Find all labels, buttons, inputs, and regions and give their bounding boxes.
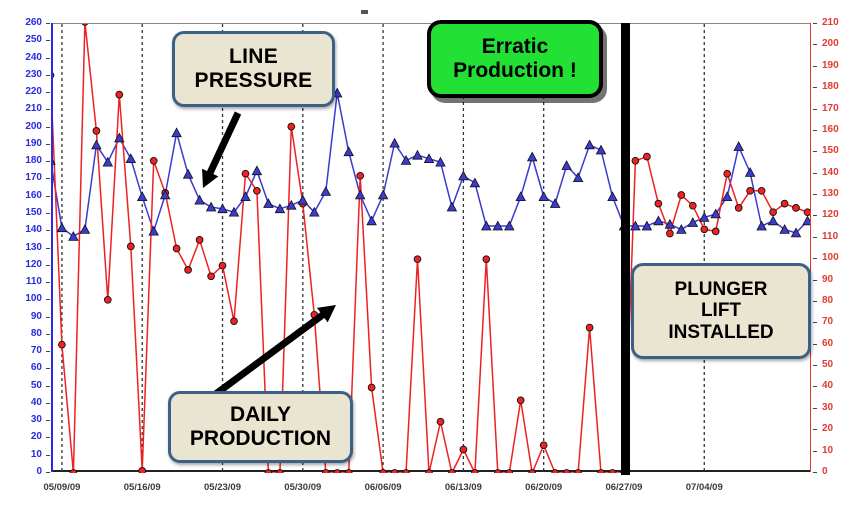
data-point-daily-production (82, 24, 89, 25)
y-axis-left-tick (46, 23, 50, 24)
y-axis-left-tick-label: 30 (8, 415, 42, 425)
data-point-daily-production (540, 442, 547, 449)
y-axis-right-tick (813, 258, 817, 259)
data-point-daily-production (116, 91, 123, 98)
data-point-daily-production (219, 262, 226, 269)
data-point-daily-production (391, 470, 398, 473)
y-axis-right-tick-label: 20 (822, 424, 833, 434)
data-point-daily-production (414, 256, 421, 263)
y-axis-right-tick-label: 150 (822, 146, 839, 156)
y-axis-right-tick-label: 10 (822, 446, 833, 456)
data-point-line-pressure (298, 196, 307, 205)
y-axis-right-tick (813, 173, 817, 174)
data-point-line-pressure (184, 170, 193, 179)
data-point-daily-production (59, 341, 66, 348)
data-point-line-pressure (126, 154, 135, 163)
y-axis-left-tick-label: 90 (8, 312, 42, 322)
data-point-line-pressure (252, 166, 261, 175)
data-point-daily-production (609, 470, 616, 473)
x-axis-tick-label: 06/20/09 (509, 482, 579, 493)
data-point-daily-production (139, 468, 146, 474)
x-axis-tick-label: 07/04/09 (669, 482, 739, 493)
series-line-pressure-path (53, 93, 810, 236)
y-axis-right-tick (813, 130, 817, 131)
data-point-daily-production (804, 209, 810, 216)
x-axis-tick-label: 06/06/09 (348, 482, 418, 493)
y-axis-left-tick-label: 210 (8, 104, 42, 114)
data-point-line-pressure (585, 140, 594, 149)
y-axis-left-tick (46, 161, 50, 162)
data-point-line-pressure (207, 203, 216, 212)
data-point-daily-production (460, 446, 467, 453)
y-axis-left-tick-label: 200 (8, 122, 42, 132)
data-point-line-pressure (103, 158, 112, 167)
data-point-daily-production (104, 296, 111, 303)
y-axis-right-tick (813, 66, 817, 67)
y-axis-right-tick-label: 160 (822, 125, 839, 135)
data-point-line-pressure (654, 216, 663, 225)
callout-erratic-line2: Production ! (453, 59, 577, 83)
data-point-line-pressure (321, 187, 330, 196)
data-point-line-pressure (241, 192, 250, 201)
y-axis-left-tick-label: 50 (8, 381, 42, 391)
y-axis-left-tick-label: 20 (8, 432, 42, 442)
callout-plunger-line3: INSTALLED (668, 322, 773, 343)
data-point-daily-production (426, 470, 433, 473)
data-point-daily-production (483, 256, 490, 263)
data-point-daily-production (712, 228, 719, 235)
x-axis-tick-label: 06/13/09 (428, 482, 498, 493)
y-axis-left-tick-label: 180 (8, 156, 42, 166)
y-axis-left-tick (46, 334, 50, 335)
y-axis-left-tick (46, 386, 50, 387)
data-point-daily-production (506, 470, 513, 473)
x-axis-tick-label: 05/09/09 (27, 482, 97, 493)
y-axis-right-tick (813, 451, 817, 452)
callout-daily-production-line2: PRODUCTION (190, 427, 331, 451)
y-axis-right-tick (813, 322, 817, 323)
data-point-daily-production (494, 470, 501, 473)
data-point-daily-production (517, 397, 524, 404)
y-axis-right-tick (813, 237, 817, 238)
x-axis-tick-label: 05/23/09 (188, 482, 258, 493)
callout-daily-production[interactable]: DAILY PRODUCTION (168, 391, 353, 463)
y-axis-left-tick (46, 40, 50, 41)
y-axis-right-tick (813, 301, 817, 302)
callout-erratic-production[interactable]: Erratic Production ! (427, 20, 603, 98)
data-point-line-pressure (459, 171, 468, 180)
x-axis-tick-label: 05/16/09 (107, 482, 177, 493)
data-point-daily-production (70, 470, 77, 473)
y-axis-left-tick-label: 230 (8, 70, 42, 80)
y-axis-left-tick (46, 368, 50, 369)
y-axis-left-tick-label: 220 (8, 87, 42, 97)
y-axis-right-tick-label: 90 (822, 275, 833, 285)
data-point-line-pressure (688, 218, 697, 227)
data-point-daily-production (758, 187, 765, 194)
y-axis-right-tick-label: 210 (822, 18, 839, 28)
y-axis-left-tick (46, 92, 50, 93)
data-point-daily-production (345, 470, 352, 473)
data-point-line-pressure (264, 199, 273, 208)
y-axis-left-tick (46, 472, 50, 473)
data-point-line-pressure (367, 216, 376, 225)
data-point-daily-production (678, 192, 685, 199)
data-point-daily-production (173, 245, 180, 252)
data-point-line-pressure (551, 199, 560, 208)
data-point-daily-production (150, 157, 157, 164)
x-axis-tick-label: 06/27/09 (589, 482, 659, 493)
y-axis-left-tick (46, 144, 50, 145)
data-point-daily-production (793, 205, 800, 212)
data-point-daily-production (53, 72, 54, 79)
y-axis-left-tick-label: 190 (8, 139, 42, 149)
data-point-daily-production (403, 470, 410, 473)
data-point-line-pressure (356, 190, 365, 199)
y-axis-left-tick (46, 420, 50, 421)
data-point-daily-production (254, 187, 261, 194)
y-axis-left-tick-label: 0 (8, 467, 42, 477)
data-point-line-pressure (447, 203, 456, 212)
callout-erratic-line1: Erratic (453, 35, 577, 59)
data-point-daily-production (334, 470, 341, 473)
data-point-line-pressure (92, 140, 101, 149)
data-point-daily-production (437, 418, 444, 425)
y-axis-left-tick-label: 140 (8, 225, 42, 235)
y-axis-right-tick-label: 120 (822, 210, 839, 220)
y-axis-right-tick (813, 280, 817, 281)
data-point-line-pressure (379, 190, 388, 199)
chart-screenshot: 0102030405060708090100110120130140150160… (0, 0, 865, 515)
x-axis-tick-label: 05/30/09 (268, 482, 338, 493)
y-axis-right-tick-label: 50 (822, 360, 833, 370)
callout-plunger-lift-installed[interactable]: PLUNGER LIFT INSTALLED (631, 263, 811, 359)
data-point-line-pressure (769, 216, 778, 225)
data-point-daily-production (724, 170, 731, 177)
data-point-line-pressure (80, 225, 89, 234)
data-point-daily-production (368, 384, 375, 391)
data-point-daily-production (563, 470, 570, 473)
data-point-daily-production (701, 226, 708, 233)
data-point-line-pressure (344, 147, 353, 156)
event-marker-bar (621, 23, 630, 475)
y-axis-right-tick-label: 140 (822, 168, 839, 178)
callout-line-pressure[interactable]: LINE PRESSURE (172, 31, 335, 107)
data-point-daily-production (552, 470, 559, 473)
y-axis-right-tick-label: 70 (822, 317, 833, 327)
y-axis-left-tick-label: 80 (8, 329, 42, 339)
data-point-daily-production (781, 200, 788, 207)
data-point-daily-production (689, 202, 696, 209)
y-axis-left-tick (46, 75, 50, 76)
data-point-daily-production (277, 470, 284, 473)
callout-line-pressure-line1: LINE (195, 45, 313, 69)
data-point-line-pressure (746, 168, 755, 177)
y-axis-left-tick (46, 213, 50, 214)
y-axis-left-tick-label: 100 (8, 294, 42, 304)
y-axis-right-tick (813, 151, 817, 152)
data-point-line-pressure (172, 128, 181, 137)
y-axis-right-tick (813, 44, 817, 45)
y-axis-left-tick-label: 10 (8, 450, 42, 460)
data-point-daily-production (632, 157, 639, 164)
data-point-line-pressure (57, 223, 66, 232)
data-point-daily-production (529, 470, 536, 473)
data-point-daily-production (644, 153, 651, 160)
y-axis-right-tick-label: 40 (822, 381, 833, 391)
data-point-line-pressure (195, 196, 204, 205)
data-point-line-pressure (390, 139, 399, 148)
data-point-daily-production (288, 123, 295, 130)
data-point-daily-production (449, 470, 456, 473)
data-point-daily-production (231, 318, 238, 325)
y-axis-right-tick (813, 109, 817, 110)
data-point-daily-production (265, 470, 272, 473)
y-axis-left-tick-label: 40 (8, 398, 42, 408)
data-point-daily-production (598, 470, 605, 473)
data-point-line-pressure (138, 192, 147, 201)
data-point-daily-production (93, 128, 100, 135)
y-axis-left-tick (46, 248, 50, 249)
y-axis-right-tick-label: 0 (822, 467, 828, 477)
data-point-line-pressure (539, 192, 548, 201)
data-point-line-pressure (401, 156, 410, 165)
arrow-daily-production-shaft (213, 312, 326, 396)
y-axis-left-tick-label: 260 (8, 18, 42, 28)
data-point-line-pressure (528, 152, 537, 161)
y-axis-right-tick (813, 429, 817, 430)
y-axis-right-tick-label: 110 (822, 232, 838, 242)
y-axis-left-tick (46, 58, 50, 59)
y-axis-right-tick-label: 60 (822, 339, 833, 349)
y-axis-left-tick-label: 150 (8, 208, 42, 218)
data-point-line-pressure (516, 192, 525, 201)
y-axis-left-tick (46, 230, 50, 231)
y-axis-right-tick (813, 365, 817, 366)
y-axis-right-tick (813, 472, 817, 473)
callout-daily-production-line1: DAILY (190, 403, 331, 427)
data-point-line-pressure (608, 192, 617, 201)
data-point-line-pressure (470, 178, 479, 187)
y-axis-right-tick-label: 100 (822, 253, 839, 263)
y-axis-left-tick (46, 403, 50, 404)
y-axis-right-tick-label: 30 (822, 403, 833, 413)
data-point-daily-production (185, 267, 192, 274)
y-axis-right-tick (813, 194, 817, 195)
y-axis-left-tick-label: 130 (8, 243, 42, 253)
data-point-daily-production (586, 324, 593, 331)
y-axis-left-tick-label: 170 (8, 173, 42, 183)
data-point-daily-production (747, 187, 754, 194)
data-point-daily-production (322, 470, 329, 473)
y-axis-right-tick-label: 130 (822, 189, 839, 199)
y-axis-right-tick (813, 87, 817, 88)
y-axis-right-tick (813, 215, 817, 216)
data-point-daily-production (242, 170, 249, 177)
data-point-line-pressure (596, 146, 605, 155)
y-axis-right-tick-label: 200 (822, 39, 839, 49)
y-axis-right-tick-label: 80 (822, 296, 833, 306)
data-point-daily-production (472, 470, 479, 473)
y-axis-left-tick (46, 317, 50, 318)
data-point-daily-production (770, 209, 777, 216)
y-axis-left-tick (46, 299, 50, 300)
y-axis-left-tick (46, 455, 50, 456)
y-axis-left-tick-label: 60 (8, 363, 42, 373)
y-axis-left-tick (46, 196, 50, 197)
data-point-line-pressure (734, 142, 743, 151)
data-point-line-pressure (562, 161, 571, 170)
y-axis-right-tick (813, 408, 817, 409)
y-axis-left-tick-label: 160 (8, 191, 42, 201)
data-point-daily-production (667, 230, 674, 237)
y-axis-left-tick-label: 240 (8, 53, 42, 63)
y-axis-right-tick (813, 23, 817, 24)
y-axis-right-tick (813, 386, 817, 387)
data-point-daily-production (380, 470, 387, 473)
data-point-daily-production (735, 205, 742, 212)
data-point-line-pressure (413, 151, 422, 160)
callout-line-pressure-line2: PRESSURE (195, 69, 313, 93)
data-point-daily-production (575, 470, 582, 473)
y-axis-left-tick-label: 250 (8, 35, 42, 45)
data-point-daily-production (127, 243, 134, 250)
data-point-line-pressure (677, 225, 686, 234)
callout-plunger-line2: LIFT (668, 300, 773, 321)
data-point-daily-production (208, 273, 215, 280)
y-axis-right-tick-label: 190 (822, 61, 839, 71)
y-axis-left-tick-label: 110 (8, 277, 42, 287)
y-axis-left-tick (46, 265, 50, 266)
y-axis-right-tick-label: 170 (822, 104, 839, 114)
data-point-daily-production (357, 172, 364, 179)
y-axis-left-tick (46, 282, 50, 283)
y-axis-left-tick (46, 127, 50, 128)
y-axis-left-tick (46, 178, 50, 179)
y-axis-left-tick-label: 120 (8, 260, 42, 270)
y-axis-left-tick (46, 109, 50, 110)
data-point-line-pressure (757, 221, 766, 230)
data-point-line-pressure (803, 216, 810, 225)
top-tick-mark (361, 10, 368, 14)
y-axis-left-tick (46, 351, 50, 352)
y-axis-right-tick (813, 344, 817, 345)
y-axis-left-tick-label: 70 (8, 346, 42, 356)
y-axis-right-tick-label: 180 (822, 82, 839, 92)
data-point-daily-production (655, 200, 662, 207)
callout-plunger-line1: PLUNGER (668, 279, 773, 300)
data-point-daily-production (196, 237, 203, 244)
y-axis-left-tick (46, 437, 50, 438)
